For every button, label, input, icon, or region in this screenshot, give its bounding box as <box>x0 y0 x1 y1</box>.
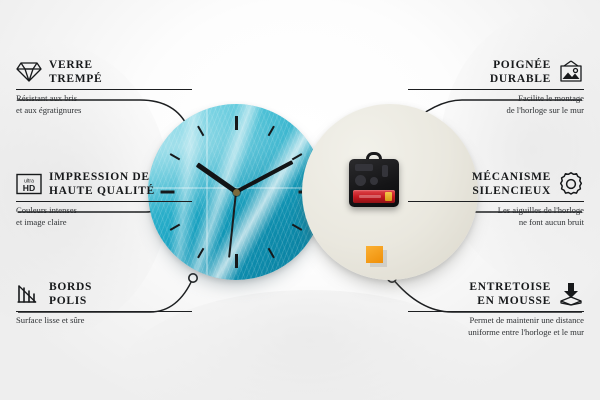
feature-poignee-durable: POIGNÉEDURABLE Facilite le montagede l'h… <box>408 58 584 117</box>
feature-bords-polis: BORDSPOLIS Surface lisse et sûre <box>16 280 192 327</box>
ultra-hd-icon: ultra HD <box>16 171 42 197</box>
feature-title: POIGNÉEDURABLE <box>490 58 551 86</box>
feature-mecanisme-silencieux: MÉCANISMESILENCIEUX Les aiguilles de l'h… <box>408 170 584 229</box>
polished-edges-icon <box>16 281 42 307</box>
feature-description: Facilite le montagede l'horloge sur le m… <box>408 90 584 116</box>
clock-tick-0 <box>235 116 238 130</box>
feature-header: ultra HD IMPRESSION DEHAUTE QUALITÉ <box>16 170 192 198</box>
foam-spacer-arrow-icon <box>558 281 584 307</box>
feature-title: BORDSPOLIS <box>49 280 92 308</box>
clock-mechanism <box>349 159 399 207</box>
infographic-stage: VERRETREMPÉ Résistant aux briset aux égr… <box>0 0 600 400</box>
diamond-icon <box>16 59 42 85</box>
feature-description: Permet de maintenir une distanceuniforme… <box>408 312 584 338</box>
feature-title: IMPRESSION DEHAUTE QUALITÉ <box>49 170 155 198</box>
feature-header: VERRETREMPÉ <box>16 58 192 86</box>
feature-description: Résistant aux briset aux égratignures <box>16 90 192 116</box>
feature-header: MÉCANISMESILENCIEUX <box>408 170 584 198</box>
feature-description: Surface lisse et sûre <box>16 312 192 327</box>
feature-header: POIGNÉEDURABLE <box>408 58 584 86</box>
feature-title: ENTRETOISEEN MOUSSE <box>469 280 551 308</box>
feature-description: Les aiguilles de l'horlogene font aucun … <box>408 202 584 228</box>
feature-title: MÉCANISMESILENCIEUX <box>472 170 551 198</box>
feature-header: BORDSPOLIS <box>16 280 192 308</box>
clock-tick-6 <box>235 254 238 268</box>
feature-header: ENTRETOISEEN MOUSSE <box>408 280 584 308</box>
gear-icon <box>558 171 584 197</box>
foam-spacer-sample <box>366 246 383 263</box>
feature-verre-trempe: VERRETREMPÉ Résistant aux briset aux égr… <box>16 58 192 117</box>
battery <box>353 190 395 203</box>
mechanism-housing <box>349 159 399 207</box>
feature-title: VERRETREMPÉ <box>49 58 102 86</box>
clock-center-hub <box>233 189 240 196</box>
feature-impression-haute-qualite: ultra HD IMPRESSION DEHAUTE QUALITÉ Coul… <box>16 170 192 229</box>
feature-description: Couleurs intenseset image claire <box>16 202 192 228</box>
svg-text:HD: HD <box>23 183 35 193</box>
feature-entretoise-en-mousse: ENTRETOISEEN MOUSSE Permet de maintenir … <box>408 280 584 339</box>
wall-hanger-frame-icon <box>558 59 584 85</box>
